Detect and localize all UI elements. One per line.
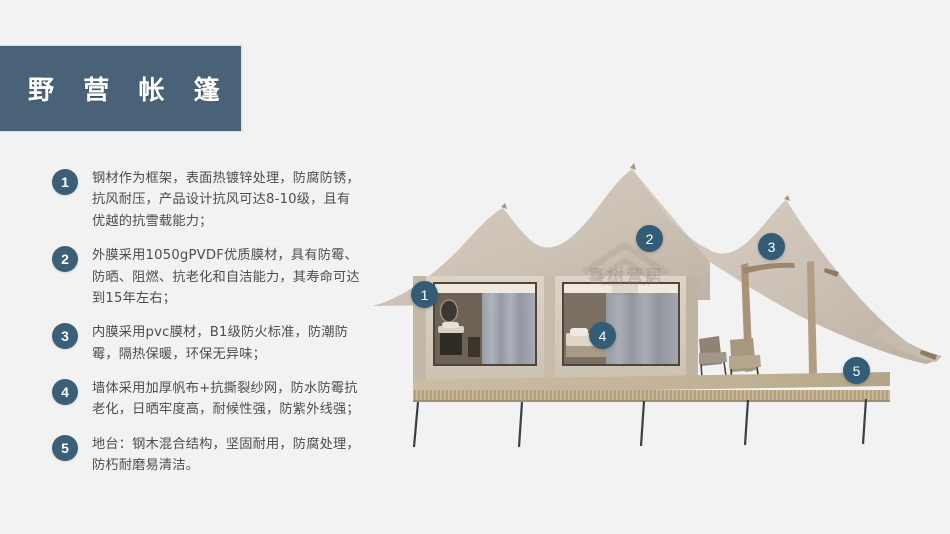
bed-pillow — [570, 328, 588, 336]
callout-badge-5[interactable]: 5 — [843, 357, 870, 384]
feature-badge-5: 5 — [52, 435, 78, 461]
deck-fascia — [413, 390, 890, 400]
callout-badge-2[interactable]: 2 — [636, 225, 663, 252]
feature-text-5: 地台：钢木混合结构，坚固耐用，防腐处理，防朽耐磨易清洁。 — [92, 434, 362, 477]
deck-shadow-line — [413, 400, 890, 402]
feature-text-2: 外膜采用1050gPVDF优质膜材，具有防霉、防晒、阻燃、抗老化和自洁能力，其寿… — [92, 245, 362, 309]
bathroom-sink-basin — [442, 322, 459, 328]
list-item: 5 地台：钢木混合结构，坚固耐用，防腐处理，防朽耐磨易清洁。 — [52, 434, 372, 477]
lounge-chair-left — [699, 336, 727, 378]
feature-badge-3: 3 — [52, 323, 78, 349]
peak-tip-right — [784, 195, 790, 201]
peak-tip-mid — [630, 163, 636, 170]
feature-text-1: 钢材作为框架，表面热镀锌处理，防腐防锈，抗风耐压，产品设计抗风可达8-10级，且… — [92, 168, 362, 232]
window-valance-right — [564, 284, 678, 293]
bathroom-cabinet — [440, 333, 462, 355]
curtain-right-window — [606, 293, 678, 364]
curtain-left-window — [482, 293, 535, 364]
feature-list: 1 钢材作为框架，表面热镀锌处理，防腐防锈，抗风耐压，产品设计抗风可达8-10级… — [52, 168, 372, 490]
cabin-right-post — [686, 276, 698, 380]
feature-badge-1: 1 — [52, 169, 78, 195]
window-valance-left — [435, 284, 535, 293]
bathroom-bin — [468, 337, 480, 357]
list-item: 4 墙体采用加厚帆布+抗撕裂纱网，防水防霉抗老化，日晒牢度高，耐候性强，防紫外线… — [52, 378, 372, 421]
feature-badge-4: 4 — [52, 379, 78, 405]
list-item: 2 外膜采用1050gPVDF优质膜材，具有防霉、防晒、阻燃、抗老化和自洁能力，… — [52, 245, 372, 309]
bathroom-mirror-icon — [441, 300, 458, 322]
tent-graphic — [370, 150, 950, 460]
tent-illustration: 喜树营居 MUSE TENT 1 2 3 4 5 — [370, 150, 950, 460]
feature-text-3: 内膜采用pvc膜材，B1级防火标准，防潮防霉，隔热保暖，环保无异味； — [92, 322, 362, 365]
page-title: 野 营 帐 篷 — [28, 70, 231, 107]
title-bar: 野 营 帐 篷 — [0, 45, 243, 132]
callout-badge-1[interactable]: 1 — [411, 281, 438, 308]
list-item: 3 内膜采用pvc膜材，B1级防火标准，防潮防霉，隔热保暖，环保无异味； — [52, 322, 372, 365]
callout-badge-3[interactable]: 3 — [758, 233, 785, 260]
list-item: 1 钢材作为框架，表面热镀锌处理，防腐防锈，抗风耐压，产品设计抗风可达8-10级… — [52, 168, 372, 232]
deck-legs — [414, 399, 866, 447]
feature-text-4: 墙体采用加厚帆布+抗撕裂纱网，防水防霉抗老化，日晒牢度高，耐候性强，防紫外线强； — [92, 378, 362, 421]
slide-canvas: 野 营 帐 篷 1 钢材作为框架，表面热镀锌处理，防腐防锈，抗风耐压，产品设计抗… — [0, 0, 950, 534]
cabin-center-post — [544, 276, 555, 380]
feature-badge-2: 2 — [52, 246, 78, 272]
callout-badge-4[interactable]: 4 — [589, 322, 616, 349]
peak-tip-left — [501, 203, 507, 209]
